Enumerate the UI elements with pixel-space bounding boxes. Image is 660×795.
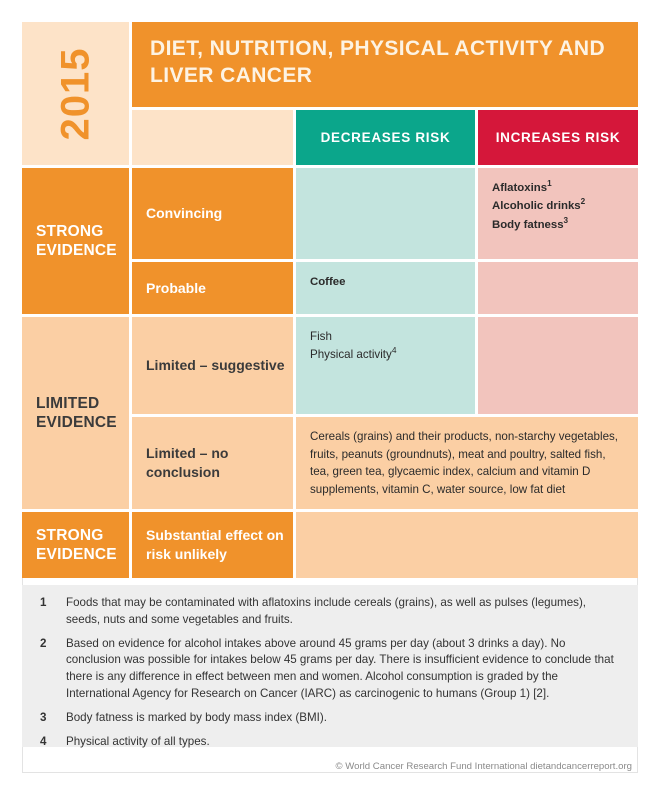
evidence-group-strong-bottom-label: STRONG EVIDENCE	[36, 526, 129, 565]
grade-probable: Probable	[132, 262, 293, 314]
title-bar: DIET, NUTRITION, PHYSICAL ACTIVITY AND L…	[132, 22, 638, 107]
footnote-marker: 2	[581, 198, 586, 207]
footnote-row: 4Physical activity of all types.	[40, 734, 620, 751]
cell-convincing-increases: Aflatoxins1Alcoholic drinks2Body fatness…	[478, 168, 638, 259]
footnote-row: 2Based on evidence for alcohol intakes a…	[40, 636, 620, 703]
risk-factor-item: Fish	[310, 328, 461, 346]
evidence-group-strong-bottom: STRONG EVIDENCE	[22, 512, 129, 578]
footnote-text: Based on evidence for alcohol intakes ab…	[66, 636, 620, 703]
cell-probable-decreases: Coffee	[296, 262, 475, 314]
column-header-decreases-risk-label: DECREASES RISK	[321, 130, 451, 145]
footnote-text: Physical activity of all types.	[66, 734, 620, 751]
evidence-matrix: 2015 DIET, NUTRITION, PHYSICAL ACTIVITY …	[22, 22, 638, 578]
footnote-number: 1	[40, 595, 66, 629]
cell-substantial-effect-unlikely	[296, 512, 638, 578]
footnote-row: 3Body fatness is marked by body mass ind…	[40, 710, 620, 727]
footnote-number: 4	[40, 734, 66, 751]
evidence-group-strong-top: STRONG EVIDENCE	[22, 168, 129, 314]
grade-convincing: Convincing	[132, 168, 293, 259]
grade-probable-label: Probable	[146, 279, 206, 298]
column-header-decreases-risk: DECREASES RISK	[296, 110, 475, 165]
grade-convincing-label: Convincing	[146, 204, 222, 223]
page-title: DIET, NUTRITION, PHYSICAL ACTIVITY AND L…	[150, 36, 622, 90]
risk-factor-item: Physical activity4	[310, 346, 461, 364]
footnote-number: 3	[40, 710, 66, 727]
grade-limited-suggestive: Limited – suggestive	[132, 317, 293, 414]
footnotes-list: 1Foods that may be contaminated with afl…	[40, 595, 620, 750]
footer: © World Cancer Research Fund Internation…	[22, 756, 638, 774]
cell-limited-no-conclusion: Cereals (grains) and their products, non…	[296, 417, 638, 509]
footnote-row: 1Foods that may be contaminated with afl…	[40, 595, 620, 629]
cell-suggestive-increases	[478, 317, 638, 414]
cell-suggestive-decreases: FishPhysical activity4	[296, 317, 475, 414]
evidence-group-limited: LIMITED EVIDENCE	[22, 317, 129, 509]
cell-probable-increases	[478, 262, 638, 314]
column-header-increases-risk-label: INCREASES RISK	[496, 130, 621, 145]
footer-credit: © World Cancer Research Fund Internation…	[336, 761, 632, 772]
evidence-group-limited-label: LIMITED EVIDENCE	[36, 394, 129, 433]
grade-substantial-effect-unlikely-label: Substantial effect on risk unlikely	[146, 526, 287, 564]
risk-factor-item: Body fatness3	[492, 216, 624, 234]
column-header-increases-risk: INCREASES RISK	[478, 110, 638, 165]
risk-factor-item: Alcoholic drinks2	[492, 197, 624, 215]
evidence-group-strong-top-label: STRONG EVIDENCE	[36, 222, 129, 261]
cell-convincing-decreases	[296, 168, 475, 259]
risk-factor-item: Aflatoxins1	[492, 179, 624, 197]
footnote-marker: 1	[547, 179, 552, 188]
grade-substantial-effect-unlikely: Substantial effect on risk unlikely	[132, 512, 293, 578]
year-label: 2015	[53, 47, 98, 140]
grade-limited-no-conclusion: Limited – no conclusion	[132, 417, 293, 509]
grade-limited-no-conclusion-label: Limited – no conclusion	[146, 444, 287, 482]
footnote-text: Body fatness is marked by body mass inde…	[66, 710, 620, 727]
footnote-number: 2	[40, 636, 66, 703]
footnote-marker: 3	[564, 216, 569, 225]
year-block: 2015	[22, 22, 129, 165]
header-blank-cell	[132, 110, 293, 165]
grade-limited-suggestive-label: Limited – suggestive	[146, 356, 284, 375]
footnote-text: Foods that may be contaminated with afla…	[66, 595, 620, 629]
footnotes-panel: 1Foods that may be contaminated with afl…	[22, 585, 638, 747]
liver-cancer-matrix-page: 2015 DIET, NUTRITION, PHYSICAL ACTIVITY …	[0, 0, 660, 795]
footnote-marker: 4	[392, 345, 397, 355]
